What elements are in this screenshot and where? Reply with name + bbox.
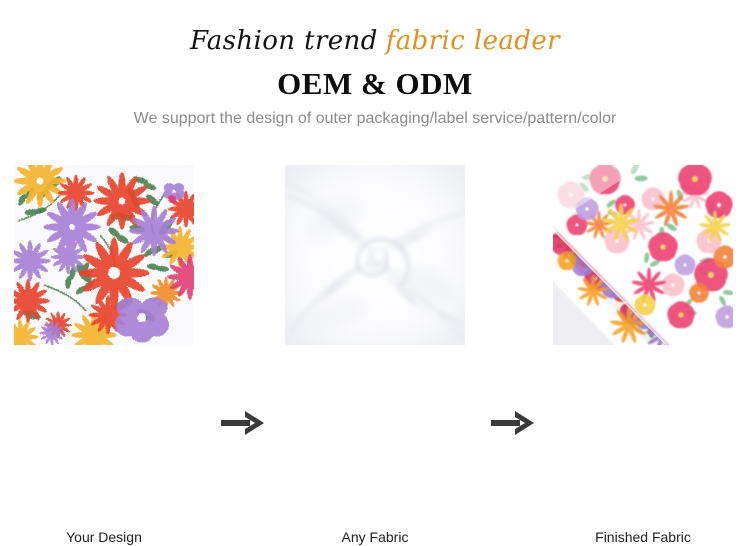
- white-swirled-fabric-photo: [285, 165, 465, 345]
- page-title: OEM & ODM: [0, 67, 750, 101]
- caption-any-fabric: Any Fabric: [285, 528, 465, 546]
- script-headline-accent: fabric leader: [378, 26, 560, 56]
- step-image-your-design: [14, 165, 194, 345]
- banner-header: Fashion trendfabric leader OEM & ODM We …: [0, 0, 750, 129]
- step-image-any-fabric: [285, 165, 465, 345]
- script-headline-primary: Fashion trend: [190, 26, 378, 56]
- hand-drawn-floral-design-swatch: [14, 165, 194, 345]
- printed-floral-finished-fabric-photo: [553, 165, 733, 345]
- step-image-finished-fabric: [553, 165, 733, 345]
- oem-odm-banner: Fashion trendfabric leader OEM & ODM We …: [0, 0, 750, 418]
- caption-finished-fabric: Finished Fabric: [553, 528, 733, 546]
- arrow-right-icon-2: [491, 409, 535, 437]
- script-headline: Fashion trendfabric leader: [0, 26, 750, 56]
- process-steps: Your Design Any Fabric Finished Fabric: [0, 165, 750, 350]
- caption-your-design: Your Design: [14, 528, 194, 546]
- arrow-right-icon-1: [221, 409, 265, 437]
- page-subtitle: We support the design of outer packaging…: [0, 109, 750, 129]
